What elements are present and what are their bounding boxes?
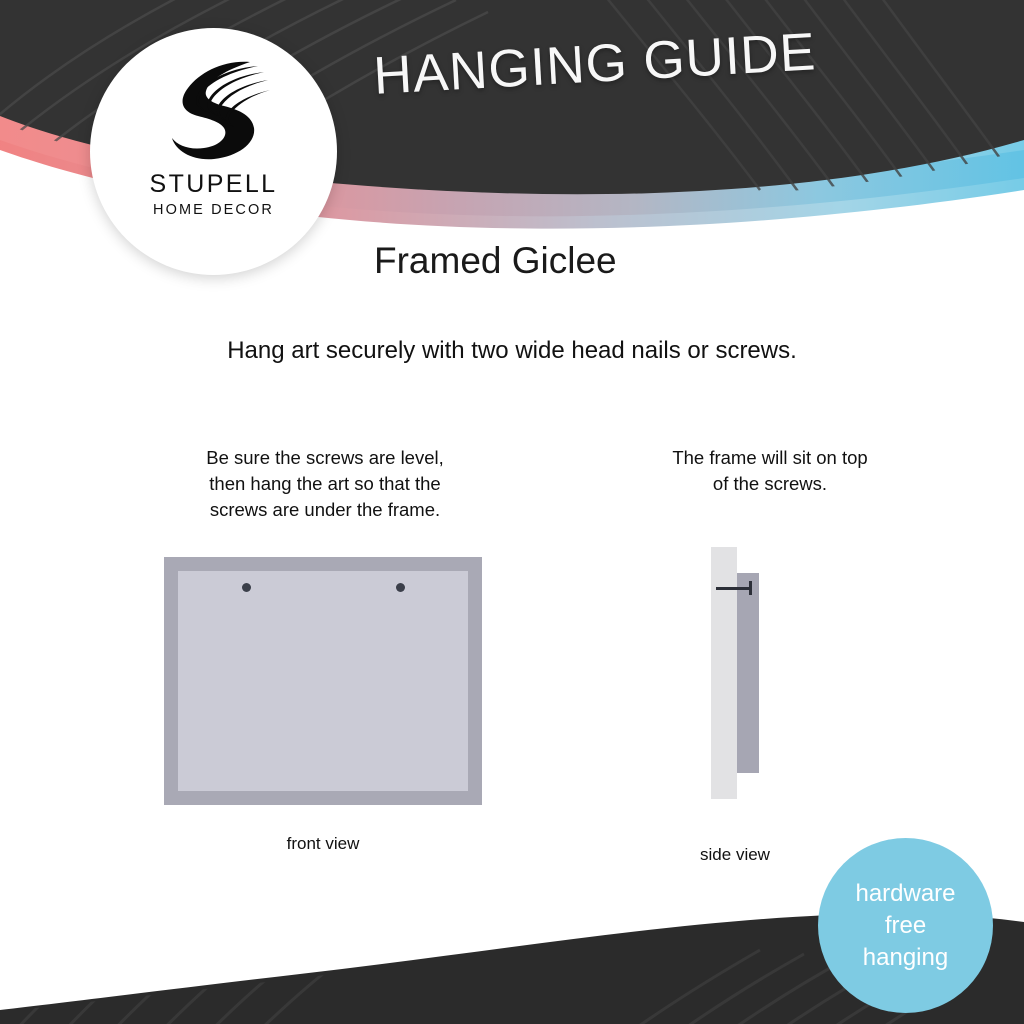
brand-logo-badge: STUPELL HOME DECOR [90,28,337,275]
wall-side-diagram [711,547,737,799]
side-view-panel: The frame will sit on top of the screws. [590,445,950,497]
front-view-instruction: Be sure the screws are level, then hang … [140,445,510,523]
screw-dot-left-icon [242,583,251,592]
hanging-guide-page: STUPELL HOME DECOR HANGING GUIDE Framed … [0,0,1024,1024]
frame-artwork-area [178,571,468,791]
brand-tagline: HOME DECOR [153,202,274,218]
front-view-caption: front view [164,834,482,854]
side-view-caption: side view [660,845,810,865]
side-view-instruction: The frame will sit on top of the screws. [590,445,950,497]
front-view-panel: Be sure the screws are level, then hang … [140,445,510,523]
screw-dot-right-icon [396,583,405,592]
picture-frame-side-diagram [737,573,759,773]
stupell-swoosh-logo-icon [154,54,274,166]
lead-instruction: Hang art securely with two wide head nai… [0,337,1024,365]
badge-line-2: free [885,910,926,942]
picture-frame-front-diagram [164,557,482,805]
badge-line-1: hardware [855,878,955,910]
badge-line-3: hanging [863,942,948,974]
hardware-free-hanging-badge: hardware free hanging [818,838,993,1013]
nail-in-wall-icon [716,587,752,590]
brand-name: STUPELL [150,170,278,199]
nail-head-icon [749,581,752,595]
page-title: HANGING GUIDE [372,21,818,107]
product-type-title: Framed Giclee [374,240,617,282]
